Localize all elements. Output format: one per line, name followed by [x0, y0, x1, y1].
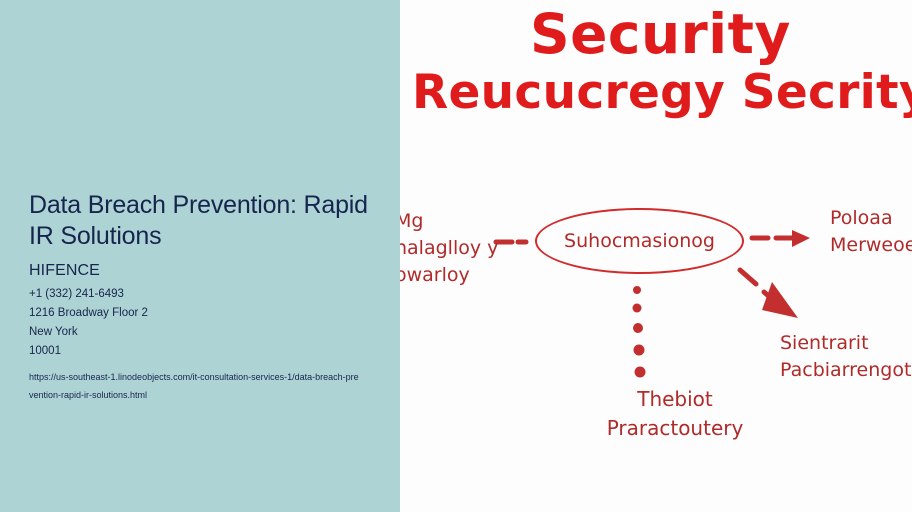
- diagram-label-bottom-right-line2: Pacbiarrengot: [780, 357, 911, 384]
- info-panel-content: Data Breach Prevention: Rapid IR Solutio…: [29, 190, 389, 404]
- address-city: New York: [29, 323, 389, 342]
- diagram-label-bottom-line2: Praractoutery: [560, 414, 790, 443]
- diagram-label-left-line2: halaglloy y: [400, 235, 498, 262]
- diagram-center-node: Suhocmasionog: [535, 208, 744, 274]
- diagram-label-top-right: Poloaa Merweoel: [830, 205, 912, 259]
- brand-name: HIFENCE: [29, 262, 389, 280]
- info-panel: Data Breach Prevention: Rapid IR Solutio…: [0, 0, 400, 512]
- arrowhead-right: [792, 230, 810, 247]
- illustration-panel: Security Reucucregy Secrity: [400, 0, 912, 512]
- arrow-diag-dash-1: [740, 270, 756, 284]
- headline-primary: Security: [530, 2, 791, 66]
- address-line: 1216 Broadway Floor 2: [29, 304, 389, 323]
- address-zip: 10001: [29, 342, 389, 361]
- arrow-down-dots: [633, 286, 646, 378]
- page-title: Data Breach Prevention: Rapid IR Solutio…: [29, 190, 389, 252]
- concept-diagram: Suhocmasionog Mg halaglloy y owarloy Pol…: [400, 160, 912, 490]
- diagram-label-left-line3: owarloy: [400, 262, 498, 289]
- diagram-label-left-line1: Mg: [400, 208, 498, 235]
- diagram-label-top-right-line1: Poloaa: [830, 205, 912, 232]
- arrowhead-diagonal: [762, 282, 798, 318]
- poster-page: Data Breach Prevention: Rapid IR Solutio…: [0, 0, 912, 512]
- diagram-label-bottom-line1: Thebiot: [560, 385, 790, 414]
- headline-secondary: Reucucregy Secrity: [412, 65, 912, 120]
- diagram-center-label: Suhocmasionog: [564, 230, 715, 252]
- phone-number: +1 (332) 241-6493: [29, 285, 389, 304]
- diagram-label-top-right-line2: Merweoel: [830, 232, 912, 259]
- source-url: https://us-southeast-1.linodeobjects.com…: [29, 368, 359, 404]
- diagram-label-bottom-right: Sientrarit Pacbiarrengot: [780, 330, 911, 384]
- diagram-label-bottom: Thebiot Praractoutery: [560, 385, 790, 443]
- diagram-label-bottom-right-line1: Sientrarit: [780, 330, 911, 357]
- diagram-label-left: Mg halaglloy y owarloy: [400, 208, 498, 289]
